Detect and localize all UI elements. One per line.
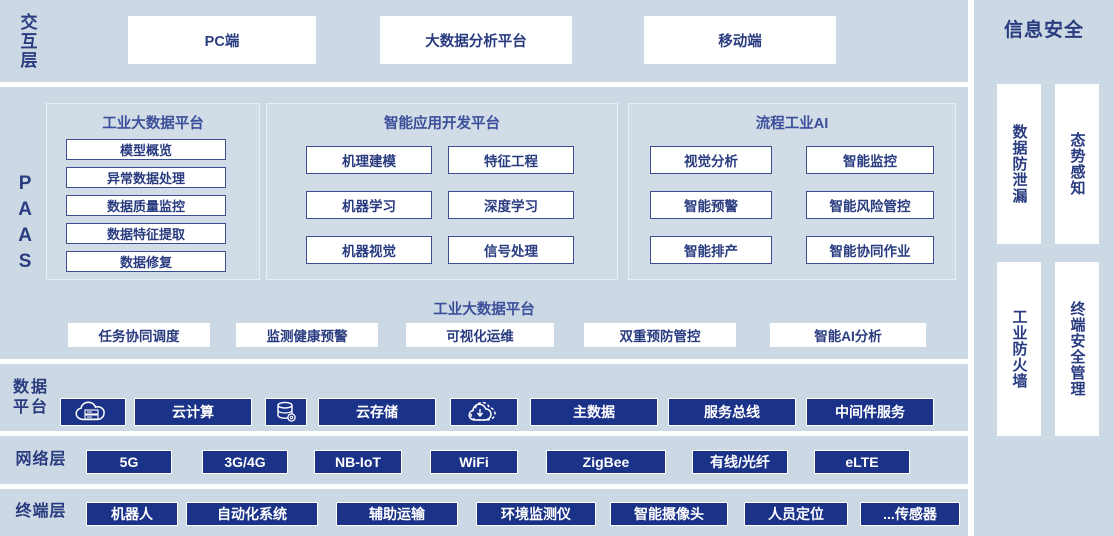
architecture-diagram: 交互层 PC端 大数据分析平台 移动端 PAAS 工业大数据平台 模型概览 异常…	[0, 0, 1114, 536]
paas-item-smart-alert[interactable]: 智能预警	[650, 191, 772, 219]
data-platform-item-label: 中间件服务	[835, 402, 905, 422]
terminal-item-env-monitor[interactable]: 环境监测仪	[476, 502, 596, 526]
data-platform-item-label: 云计算	[172, 402, 214, 422]
data-platform-item-label: 云存储	[356, 402, 398, 422]
security-item-data-leak-prevention[interactable]: 数据防泄漏	[997, 84, 1041, 244]
paas-item-label: 机器视觉	[342, 240, 396, 260]
data-platform-item-master-data[interactable]: 主数据	[530, 398, 658, 426]
terminal-item-sensors[interactable]: ...传感器	[860, 502, 960, 526]
security-item-terminal-security-mgmt[interactable]: 终端安全管理	[1055, 262, 1099, 436]
data-platform-label: 数据平台	[2, 374, 60, 422]
paas-bottom-item-dual-prevention[interactable]: 双重预防管控	[584, 323, 736, 347]
paas-bottom-item-task-scheduling[interactable]: 任务协同调度	[68, 323, 210, 347]
network-item-label: 3G/4G	[224, 454, 265, 470]
terminal-item-label: 人员定位	[768, 504, 824, 524]
paas-item-label: 智能预警	[684, 195, 738, 215]
paas-bottom-item-label: 可视化运维	[446, 325, 514, 345]
paas-item-feature-engineering[interactable]: 特征工程	[448, 146, 574, 174]
paas-item-label: 智能风险管控	[830, 195, 911, 215]
network-item-label: NB-IoT	[335, 454, 381, 470]
paas-item-label: 视觉分析	[684, 150, 738, 170]
terminal-layer-label: 终端层	[2, 500, 80, 524]
paas-item-label: 机理建模	[342, 150, 396, 170]
paas-item-label: 特征工程	[484, 150, 538, 170]
data-platform-item-cloud-computing[interactable]: 云计算	[134, 398, 252, 426]
paas-item-model-overview[interactable]: 模型概览	[66, 139, 226, 160]
terminal-item-smart-camera[interactable]: 智能摄像头	[610, 502, 728, 526]
interaction-item-pc[interactable]: PC端	[128, 16, 316, 64]
network-item-label: WiFi	[459, 454, 488, 470]
paas-bottom-item-label: 双重预防管控	[620, 325, 701, 345]
paas-item-smart-scheduling[interactable]: 智能排产	[650, 236, 772, 264]
terminal-item-label: ...传感器	[883, 504, 937, 524]
data-platform-label-text: 数据平台	[5, 378, 57, 418]
paas-item-label: 模型概览	[120, 140, 172, 159]
data-platform-item-label: 服务总线	[704, 402, 760, 422]
paas-item-label: 智能排产	[684, 240, 738, 260]
paas-item-label: 机器学习	[342, 195, 396, 215]
paas-item-label: 数据特征提取	[107, 224, 185, 243]
network-item-5g[interactable]: 5G	[86, 450, 172, 474]
network-item-label: eLTE	[845, 454, 878, 470]
paas-item-smart-monitoring[interactable]: 智能监控	[806, 146, 934, 174]
paas-item-machine-learning[interactable]: 机器学习	[306, 191, 432, 219]
terminal-item-label: 智能摄像头	[634, 504, 704, 524]
terminal-item-label: 自动化系统	[217, 504, 287, 524]
interaction-item-bigdata[interactable]: 大数据分析平台	[380, 16, 572, 64]
network-item-wifi[interactable]: WiFi	[430, 450, 518, 474]
security-item-label: 态势感知	[1067, 132, 1088, 196]
terminal-item-label: 机器人	[111, 504, 153, 524]
terminal-item-robot[interactable]: 机器人	[86, 502, 178, 526]
database-gear-icon	[274, 400, 298, 424]
paas-item-label: 数据修复	[120, 252, 172, 271]
paas-item-smart-collaboration[interactable]: 智能协同作业	[806, 236, 934, 264]
interaction-item-mobile[interactable]: 移动端	[644, 16, 836, 64]
paas-bottom-item-label: 智能AI分析	[814, 325, 882, 345]
data-platform-icon-database-gear[interactable]	[265, 398, 307, 426]
network-layer-label: 网络层	[2, 448, 80, 472]
network-item-fiber[interactable]: 有线/光纤	[692, 450, 788, 474]
data-platform-icon-cloud-server[interactable]	[60, 398, 126, 426]
paas-item-visual-analysis[interactable]: 视觉分析	[650, 146, 772, 174]
paas-item-label: 智能监控	[843, 150, 897, 170]
paas-bottom-item-health-alert[interactable]: 监测健康预警	[236, 323, 378, 347]
paas-item-label: 智能协同作业	[830, 240, 911, 260]
cloud-server-icon	[73, 400, 113, 424]
network-item-elte[interactable]: eLTE	[814, 450, 910, 474]
paas-item-deep-learning[interactable]: 深度学习	[448, 191, 574, 219]
data-platform-item-label: 主数据	[573, 402, 615, 422]
paas-item-feature-extract[interactable]: 数据特征提取	[66, 223, 226, 244]
terminal-item-label: 辅助运输	[369, 504, 425, 524]
paas-item-smart-risk-control[interactable]: 智能风险管控	[806, 191, 934, 219]
paas-item-data-repair[interactable]: 数据修复	[66, 251, 226, 272]
terminal-item-label: 环境监测仪	[501, 504, 571, 524]
paas-bottom-item-visual-ops[interactable]: 可视化运维	[406, 323, 554, 347]
data-platform-icon-cloud-sync[interactable]	[450, 398, 518, 426]
security-sidebar-title: 信息安全	[974, 16, 1114, 46]
paas-bottom-item-label: 任务协同调度	[99, 325, 180, 345]
paas-item-label: 异常数据处理	[107, 168, 185, 187]
terminal-item-personnel-locating[interactable]: 人员定位	[744, 502, 848, 526]
security-item-situational-awareness[interactable]: 态势感知	[1055, 84, 1099, 244]
paas-bottom-item-label: 监测健康预警	[267, 325, 348, 345]
network-item-label: 有线/光纤	[710, 452, 770, 472]
paas-item-machine-vision[interactable]: 机器视觉	[306, 236, 432, 264]
paas-bottom-row-title: 工业大数据平台	[0, 298, 968, 319]
paas-item-label: 深度学习	[484, 195, 538, 215]
paas-panel-title: 智能应用开发平台	[267, 112, 617, 133]
interaction-item-label: PC端	[205, 30, 240, 51]
data-platform-item-service-bus[interactable]: 服务总线	[668, 398, 796, 426]
data-platform-item-cloud-storage[interactable]: 云存储	[318, 398, 436, 426]
interaction-item-label: 移动端	[718, 30, 762, 51]
paas-layer-label: PAAS	[2, 170, 48, 280]
paas-item-abnormal-data[interactable]: 异常数据处理	[66, 167, 226, 188]
network-item-label: 5G	[120, 454, 139, 470]
paas-panel-title: 工业大数据平台	[47, 112, 259, 133]
paas-item-signal-processing[interactable]: 信号处理	[448, 236, 574, 264]
network-item-label: ZigBee	[583, 454, 630, 470]
cloud-sync-icon	[465, 400, 503, 424]
terminal-item-transport[interactable]: 辅助运输	[336, 502, 458, 526]
paas-item-label: 数据质量监控	[107, 196, 185, 215]
security-item-label: 工业防火墙	[1009, 309, 1030, 389]
paas-item-mechanism-modeling[interactable]: 机理建模	[306, 146, 432, 174]
interaction-layer-label: 交互层	[4, 4, 50, 78]
paas-item-label: 信号处理	[484, 240, 538, 260]
paas-bottom-item-ai-analysis[interactable]: 智能AI分析	[770, 323, 926, 347]
paas-panel-title: 流程工业AI	[629, 112, 955, 133]
data-platform-item-middleware[interactable]: 中间件服务	[806, 398, 934, 426]
security-item-label: 数据防泄漏	[1009, 124, 1030, 204]
security-item-industrial-firewall[interactable]: 工业防火墙	[997, 262, 1041, 436]
network-item-3g4g[interactable]: 3G/4G	[202, 450, 288, 474]
network-item-zigbee[interactable]: ZigBee	[546, 450, 666, 474]
paas-item-data-quality[interactable]: 数据质量监控	[66, 195, 226, 216]
security-item-label: 终端安全管理	[1067, 301, 1088, 397]
interaction-item-label: 大数据分析平台	[425, 30, 527, 51]
network-item-nbiot[interactable]: NB-IoT	[314, 450, 402, 474]
terminal-item-automation[interactable]: 自动化系统	[186, 502, 318, 526]
